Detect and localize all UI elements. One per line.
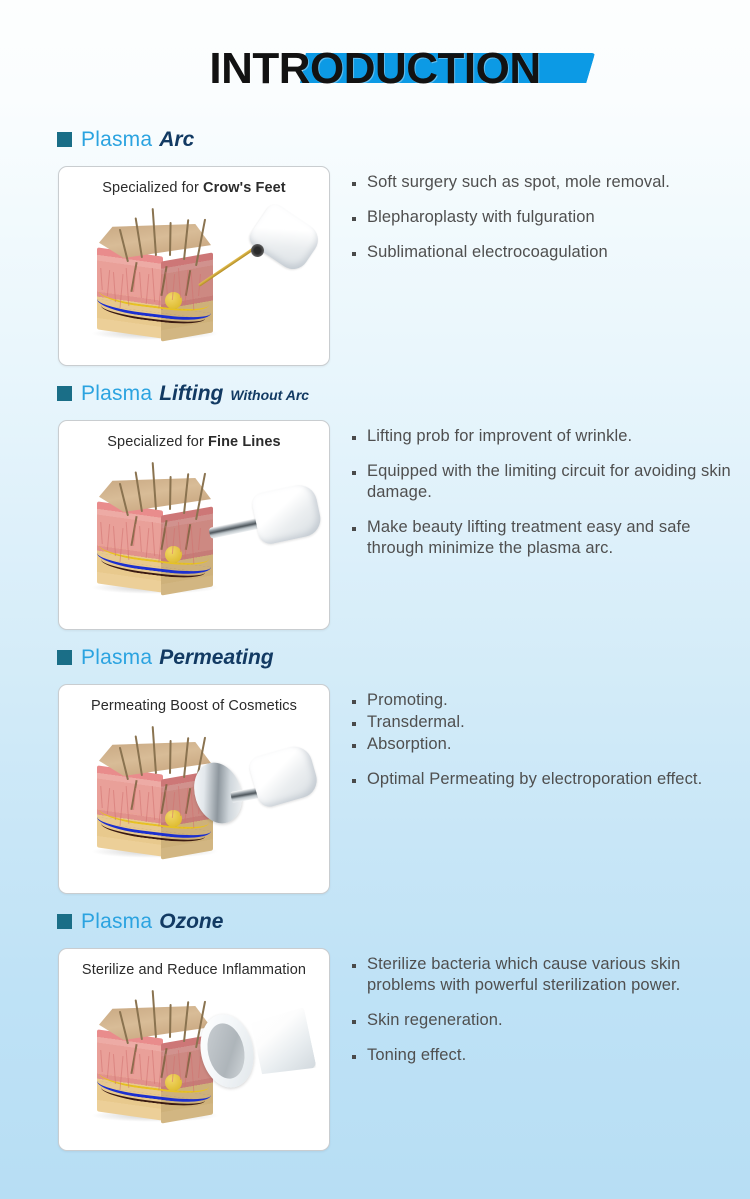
card-caption-prefix: Specialized for: [102, 180, 203, 196]
probe-illustration: [207, 206, 327, 316]
feature-list: Lifting prob for improvent of wrinkle.Eq…: [330, 420, 750, 573]
sections-container: Plasma Arc Specialized for Crow's Feet: [0, 128, 750, 1151]
product-section-arc: Plasma Arc Specialized for Crow's Feet: [0, 128, 750, 366]
heading-subnote: Without Arc: [230, 387, 309, 403]
heading-mode: Lifting: [159, 382, 223, 406]
feature-list-item-text: Toning effect.: [367, 1045, 466, 1066]
handpiece-body: [246, 201, 324, 275]
page-title: INTRODUCTION: [0, 44, 750, 94]
illustration-card: Specialized for Fine Lines: [58, 420, 330, 630]
section-body: Sterilize and Reduce Inflammation: [0, 948, 750, 1151]
heading-mode: Ozone: [159, 910, 223, 934]
feature-list-item-text: Absorption.: [367, 734, 452, 755]
feature-list-item: Promoting.: [352, 690, 750, 711]
feature-list-item: Sublimational electrocoagulation: [352, 242, 750, 263]
introduction-page: INTRODUCTION Plasma Arc Specialized for …: [0, 0, 750, 1199]
skin-cross-section-illustration: [89, 210, 225, 342]
square-bullet-icon: [57, 650, 72, 665]
feature-list-item: Transdermal.: [352, 712, 750, 733]
bullet-dot-icon: [352, 722, 356, 726]
feature-list-item: Sterilize bacteria which cause various s…: [352, 954, 750, 996]
probe-illustration: [195, 994, 335, 1114]
feature-list-item: Lifting prob for improvent of wrinkle.: [352, 426, 750, 447]
feature-list-item-text: Skin regeneration.: [367, 1010, 503, 1031]
page-header: INTRODUCTION: [0, 0, 750, 118]
product-section-lifting: Plasma Lifting Without Arc Specialized f…: [0, 382, 750, 630]
feature-list-item: Make beauty lifting treatment easy and s…: [352, 517, 750, 559]
feature-list: Promoting.Transdermal.Absorption.Optimal…: [330, 684, 750, 804]
section-heading: Plasma Permeating: [0, 646, 750, 684]
feature-list-item: Blepharoplasty with fulguration: [352, 207, 750, 228]
feature-list-item-text: Sublimational electrocoagulation: [367, 242, 608, 263]
bullet-dot-icon: [352, 964, 356, 968]
product-section-ozone: Plasma Ozone Sterilize and Reduce Inflam…: [0, 910, 750, 1151]
needle-tip: [198, 245, 258, 287]
section-heading: Plasma Ozone: [0, 910, 750, 948]
probe-illustration: [195, 732, 330, 847]
section-heading: Plasma Arc: [0, 128, 750, 166]
card-artwork: [67, 200, 321, 355]
square-bullet-icon: [57, 914, 72, 929]
feature-list-item: Equipped with the limiting circuit for a…: [352, 461, 750, 503]
card-caption: Specialized for Crow's Feet: [67, 180, 321, 196]
feature-list-item: Optimal Permeating by electroporation ef…: [352, 769, 750, 790]
bullet-dot-icon: [352, 252, 356, 256]
heading-brand: Plasma: [81, 128, 152, 152]
bullet-dot-icon: [352, 182, 356, 186]
bullet-dot-icon: [352, 744, 356, 748]
square-bullet-icon: [57, 132, 72, 147]
card-artwork: [67, 982, 321, 1140]
illustration-card: Sterilize and Reduce Inflammation: [58, 948, 330, 1151]
illustration-card: Permeating Boost of Cosmetics: [58, 684, 330, 894]
feature-list-item-text: Sterilize bacteria which cause various s…: [367, 954, 750, 996]
feature-list-item-text: Optimal Permeating by electroporation ef…: [367, 769, 702, 790]
feature-list-item-text: Promoting.: [367, 690, 448, 711]
card-caption: Permeating Boost of Cosmetics: [67, 698, 321, 714]
square-bullet-icon: [57, 386, 72, 401]
card-caption: Sterilize and Reduce Inflammation: [67, 962, 321, 978]
heading-brand: Plasma: [81, 646, 152, 670]
section-body: Specialized for Fine Lines: [0, 420, 750, 630]
card-caption-prefix: Specialized for: [107, 434, 208, 450]
feature-list-item-text: Make beauty lifting treatment easy and s…: [367, 517, 750, 559]
handpiece-body: [247, 742, 321, 809]
card-artwork: [67, 718, 321, 883]
heading-brand: Plasma: [81, 382, 152, 406]
bullet-dot-icon: [352, 1020, 356, 1024]
section-body: Permeating Boost of Cosmetics: [0, 684, 750, 894]
heading-brand: Plasma: [81, 910, 152, 934]
feature-list: Soft surgery such as spot, mole removal.…: [330, 166, 750, 277]
illustration-card: Specialized for Crow's Feet: [58, 166, 330, 366]
bullet-dot-icon: [352, 1055, 356, 1059]
feature-list-item-text: Equipped with the limiting circuit for a…: [367, 461, 750, 503]
bullet-dot-icon: [352, 471, 356, 475]
card-caption-strong: Fine Lines: [208, 434, 281, 450]
skin-cross-section-illustration: [89, 464, 225, 596]
section-body: Specialized for Crow's Feet: [0, 166, 750, 366]
bullet-dot-icon: [352, 217, 356, 221]
feature-list-item: Toning effect.: [352, 1045, 750, 1066]
feature-list-item-text: Soft surgery such as spot, mole removal.: [367, 172, 670, 193]
bullet-dot-icon: [352, 779, 356, 783]
feature-list-item-text: Lifting prob for improvent of wrinkle.: [367, 426, 632, 447]
heading-mode: Arc: [159, 128, 194, 152]
bullet-dot-icon: [352, 436, 356, 440]
card-artwork: [67, 454, 321, 619]
bullet-dot-icon: [352, 527, 356, 531]
feature-list-item-text: Blepharoplasty with fulguration: [367, 207, 595, 228]
section-heading: Plasma Lifting Without Arc: [0, 382, 750, 420]
feature-list-item: Absorption.: [352, 734, 750, 755]
handpiece-body: [250, 482, 323, 546]
feature-list-item: Soft surgery such as spot, mole removal.: [352, 172, 750, 193]
bullet-dot-icon: [352, 700, 356, 704]
card-caption-strong: Crow's Feet: [203, 180, 286, 196]
feature-list-item-text: Transdermal.: [367, 712, 465, 733]
card-caption-prefix: Permeating Boost of Cosmetics: [91, 698, 297, 714]
feature-list-item: Skin regeneration.: [352, 1010, 750, 1031]
card-caption-prefix: Sterilize and Reduce Inflammation: [82, 962, 306, 978]
feature-list: Sterilize bacteria which cause various s…: [330, 948, 750, 1080]
card-caption: Specialized for Fine Lines: [67, 434, 321, 450]
heading-mode: Permeating: [159, 646, 273, 670]
product-section-permeating: Plasma Permeating Permeating Boost of Co…: [0, 646, 750, 894]
probe-illustration: [207, 472, 327, 582]
